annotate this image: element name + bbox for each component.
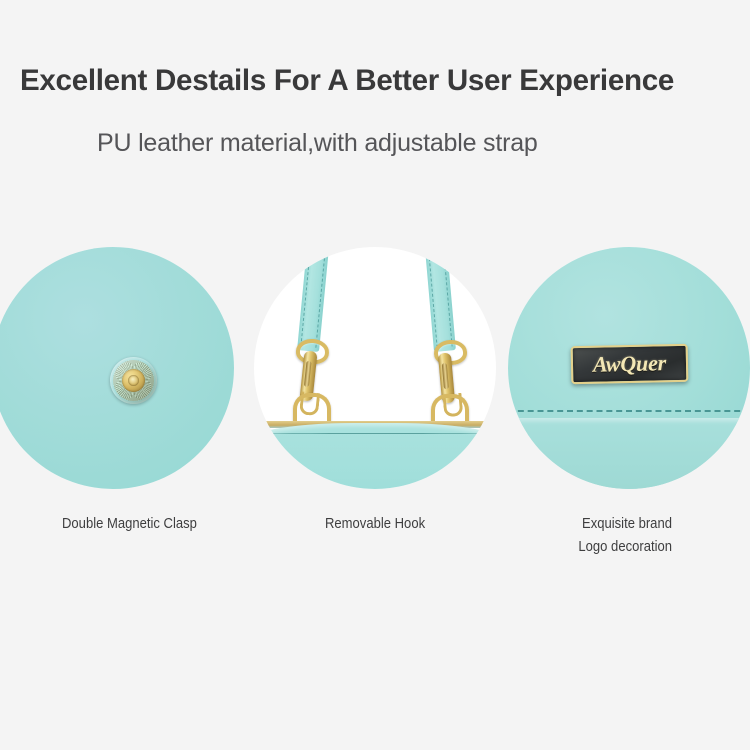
mint-leather-lower-panel: [508, 418, 750, 489]
magnetic-snap-button-icon: [110, 357, 157, 404]
bag-top-stitching: [258, 433, 494, 434]
detail-circle-double-magnetic-clasp: [0, 247, 234, 489]
caption-removable-hook: Removable Hook: [325, 513, 425, 536]
brand-logo-text: AwQuer: [593, 352, 666, 376]
page-subtitle: PU leather material,with adjustable stra…: [97, 129, 538, 158]
clasp-lever-left: [304, 361, 312, 387]
shoulder-strap-left: [297, 247, 329, 352]
panel-stitch-line: [508, 410, 750, 412]
detail-circle-brand-logo: AwQuer: [508, 247, 750, 489]
page-title: Excellent Destails For A Better User Exp…: [20, 64, 724, 98]
clasp-lever-right: [442, 363, 449, 389]
caption-brand-logo-line1: Exquisite brand: [582, 516, 672, 532]
detail-circles-row: AwQuer: [0, 247, 750, 489]
brand-logo-plate: AwQuer: [571, 344, 689, 384]
infographic-page: Excellent Destails For A Better User Exp…: [0, 0, 750, 750]
detail-photo-hook: [254, 247, 496, 489]
detail-photo-clasp: [0, 247, 234, 489]
shoulder-strap-right: [425, 247, 456, 352]
caption-brand-logo: Exquisite brand Logo decoration: [582, 513, 672, 560]
caption-double-magnetic-clasp: Double Magnetic Clasp: [62, 513, 197, 536]
detail-photo-brand-logo: AwQuer: [508, 247, 750, 489]
caption-brand-logo-line2: Logo decoration: [578, 536, 672, 559]
detail-circle-removable-hook: [254, 247, 496, 489]
snap-highlight-overlay: [110, 357, 157, 404]
